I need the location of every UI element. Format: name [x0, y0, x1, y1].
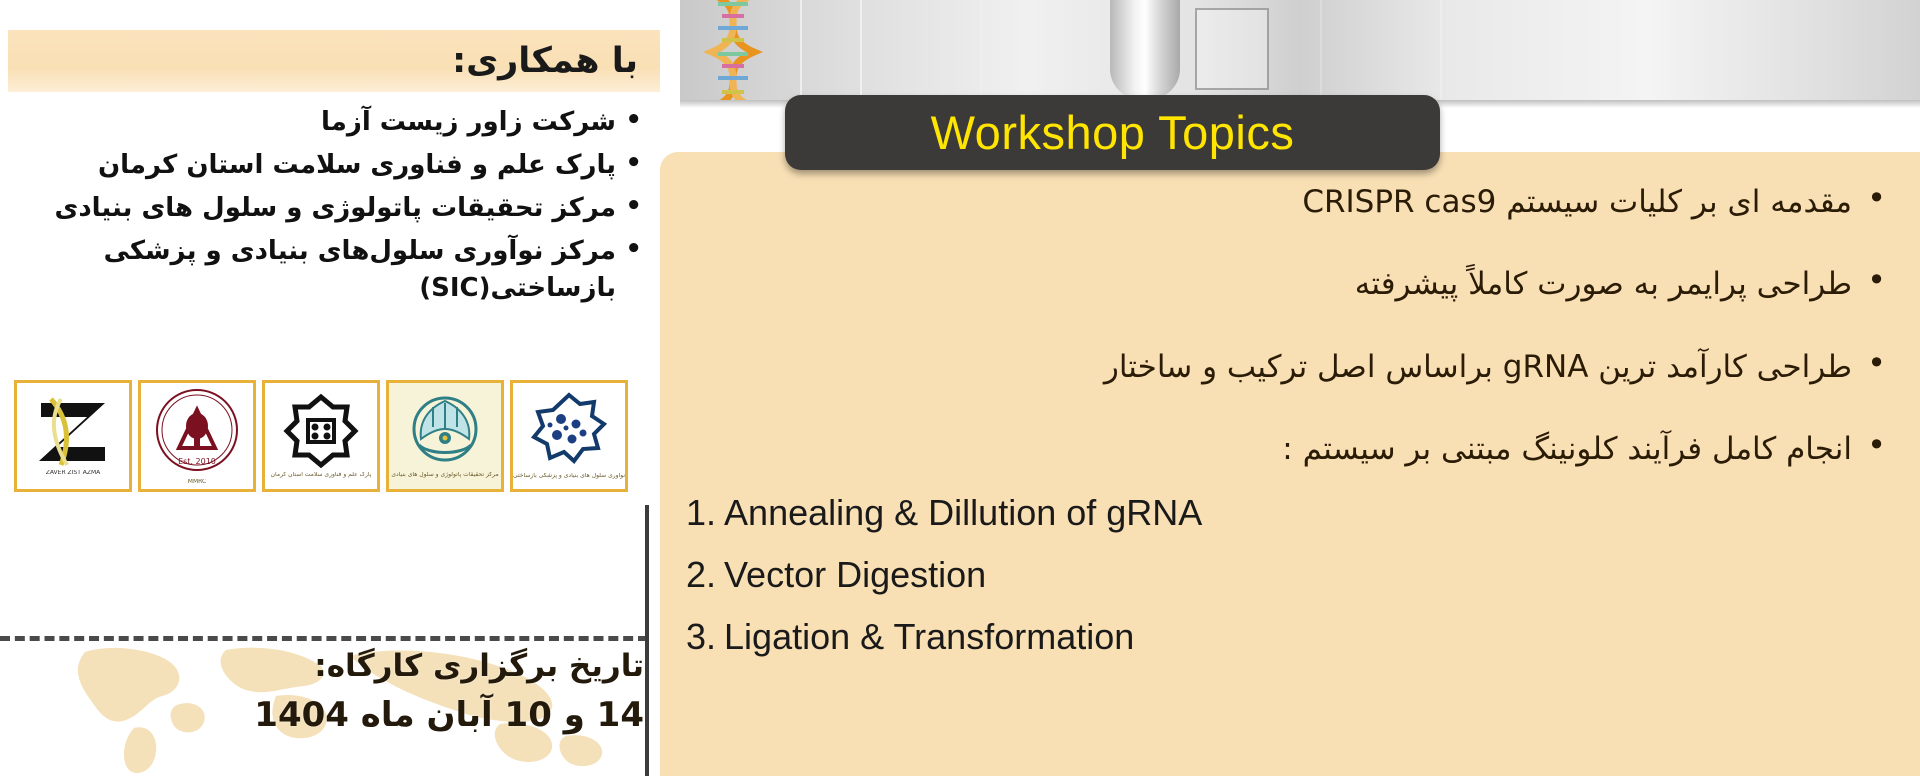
science-park-emblem-icon — [281, 393, 361, 469]
stem-cell-pathology-research-center-logo: مرکز تحقیقات پاتولوژی و سلول های بنیادی — [386, 380, 504, 492]
list-item: مرکز نوآوری سلول‌های بنیادی و پزشکی بازس… — [22, 233, 642, 307]
kerman-health-science-technology-park-logo: پارک علم و فناوری سلامت استان کرمان — [262, 380, 380, 492]
list-item: طراحی کارآمد ترین gRNA براساس اصل ترکیب … — [736, 347, 1886, 387]
topics-panel: مقدمه ای بر کلیات سیستم CRISPR cas9 طراح… — [660, 152, 1920, 776]
step-label: Vector Digestion — [724, 554, 986, 595]
step-number: 3. — [686, 616, 716, 657]
sic-innovation-center-logo: مرکز نوآوری سلول های بنیادی و پزشکی بازس… — [510, 380, 628, 492]
topic-label: مقدمه ای بر کلیات سیستم CRISPR cas9 — [1302, 184, 1852, 220]
collaborator-label: شرکت زاور زیست آزما — [321, 107, 616, 137]
collaborator-label: مرکز نوآوری سلول‌های بنیادی و پزشکی بازس… — [104, 236, 616, 303]
partner-logos-row: ZAVER ZIST AZMA Est. 2010 MMRC — [14, 380, 628, 492]
topic-label: انجام کامل فرآیند کلونینگ مبتنی بر سیستم… — [1282, 431, 1852, 467]
topic-label: طراحی پرایمر به صورت کاملاً پیشرفته — [1355, 266, 1852, 302]
workshop-topics-header: Workshop Topics — [785, 95, 1440, 170]
right-column: مقدمه ای بر کلیات سیستم CRISPR cas9 طراح… — [660, 0, 1920, 776]
workshop-topics-title: Workshop Topics — [931, 105, 1295, 160]
date-value: 14 و 10 آبان ماه 1404 — [24, 695, 644, 736]
workshop-date-block: تاریخ برگزاری کارگاه: 14 و 10 آبان ماه 1… — [24, 648, 644, 736]
collaborator-label: پارک علم و فناوری سلامت استان کرمان — [98, 150, 616, 180]
step-number: 1. — [686, 492, 716, 533]
topic-label: طراحی کارآمد ترین gRNA براساس اصل ترکیب … — [1104, 349, 1852, 385]
zaver-z-icon — [27, 395, 119, 467]
lab-dna-banner-image — [680, 0, 1920, 100]
list-item: انجام کامل فرآیند کلونینگ مبتنی بر سیستم… — [736, 429, 1886, 469]
list-item: مرکز تحقیقات پاتولوژی و سلول های بنیادی — [22, 190, 642, 227]
left-column: با همکاری: شرکت زاور زیست آزما پارک علم … — [0, 0, 660, 776]
step-label: Annealing & Dillution of gRNA — [724, 492, 1202, 533]
logo-caption: MMRC — [141, 479, 253, 486]
collaborator-label: مرکز تحقیقات پاتولوژی و سلول های بنیادی — [54, 193, 616, 223]
dna-helix-icon — [696, 0, 770, 100]
list-item: 3.Ligation & Transformation — [686, 614, 1686, 660]
collaboration-title: با همکاری: — [452, 41, 638, 81]
research-center-medical-mycology-logo: Est. 2010 MMRC — [138, 380, 256, 492]
list-item: پارک علم و فناوری سلامت استان کرمان — [22, 147, 642, 184]
svg-text:Est. 2010: Est. 2010 — [178, 457, 216, 466]
lab-panel-shape — [1195, 8, 1269, 90]
step-label: Ligation & Transformation — [724, 616, 1134, 657]
step-number: 2. — [686, 554, 716, 595]
logo-caption: مرکز نوآوری سلول های بنیادی و پزشکی بازس… — [513, 473, 625, 480]
topics-list-fa: مقدمه ای بر کلیات سیستم CRISPR cas9 طراح… — [736, 182, 1886, 511]
cloning-steps-list: 1.Annealing & Dillution of gRNA 2.Vector… — [686, 490, 1686, 676]
collaboration-banner: با همکاری: — [8, 30, 660, 92]
stem-cell-emblem-icon — [403, 393, 487, 469]
list-item: 1.Annealing & Dillution of gRNA — [686, 490, 1686, 536]
workshop-poster: با همکاری: شرکت زاور زیست آزما پارک علم … — [0, 0, 1920, 776]
logo-caption: پارک علم و فناوری سلامت استان کرمان — [265, 472, 377, 479]
list-item: طراحی پرایمر به صورت کاملاً پیشرفته — [736, 264, 1886, 304]
mycology-seal-icon: Est. 2010 — [149, 386, 245, 476]
sic-star-cells-icon — [526, 392, 612, 470]
list-item: مقدمه ای بر کلیات سیستم CRISPR cas9 — [736, 182, 1886, 222]
logo-caption: مرکز تحقیقات پاتولوژی و سلول های بنیادی — [389, 472, 501, 479]
list-item: 2.Vector Digestion — [686, 552, 1686, 598]
logo-caption: ZAVER ZIST AZMA — [17, 470, 129, 477]
collaborators-list: شرکت زاور زیست آزما پارک علم و فناوری سل… — [22, 104, 642, 313]
zaver-zist-azma-logo: ZAVER ZIST AZMA — [14, 380, 132, 492]
list-item: شرکت زاور زیست آزما — [22, 104, 642, 141]
date-title: تاریخ برگزاری کارگاه: — [24, 648, 644, 685]
test-tube-icon — [1110, 0, 1180, 99]
